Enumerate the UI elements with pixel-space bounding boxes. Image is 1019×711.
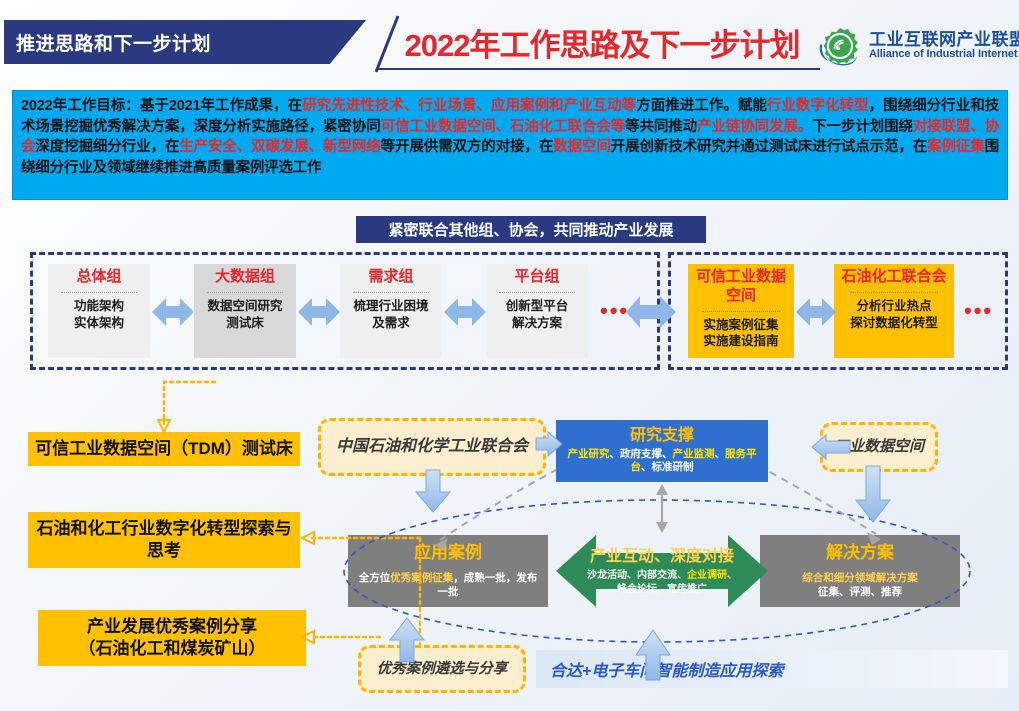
group-card-body: 创新型平台解决方案 [506, 298, 569, 332]
group-card-body: 实施案例征集实施建设指南 [703, 317, 778, 351]
card-divider [702, 311, 780, 312]
industry-interaction-arrow[interactable]: 产业互动、深度对接 沙龙活动、内部交流、企业调研、峰会论坛、宣传推广 [556, 533, 768, 609]
application-case-box[interactable]: 应用案例 全方位优秀案例征集，成熟一批，发布一批 [348, 535, 548, 607]
group-card-body: 数据空间研究测试床 [207, 298, 282, 332]
solution-box[interactable]: 解决方案 综合和细分领域解决方案征集、评测、推荐 [760, 535, 960, 607]
card-divider [207, 292, 282, 293]
cream-box-label: 工业数据空间 [834, 438, 924, 457]
ids-down-arrow [856, 466, 890, 522]
cream-box-industrial-data-space[interactable]: 工业数据空间 [820, 422, 938, 472]
left-group-ellipsis: ••• [600, 300, 629, 322]
vertical-double-arrow [656, 484, 668, 533]
yellow-banner-tdm-testbed[interactable]: 可信工业数据空间（TDM）测试床 [28, 432, 300, 466]
slide-root: 推进思路和下一步计划 2022年工作思路及下一步计划 工业互联网 [0, 0, 1019, 711]
yellow-banner-label: 可信工业数据空间（TDM）测试床 [35, 438, 293, 460]
page-title: 2022年工作思路及下一步计划 [392, 18, 812, 66]
solution-title: 解决方案 [826, 543, 894, 563]
research-support-subtitle: 产业研究、政府支撑、产业监测、服务平台、标准研制 [560, 448, 764, 475]
group-card-title: 石油化工联合会 [841, 268, 946, 287]
goal-banner-text: 2022年工作目标：基于2021年工作成果，在研究先进性技术、行业场景、应用案例… [21, 96, 999, 178]
stripe-caption-label: 合达+电子车间智能制造应用探索 [550, 657, 783, 681]
group-card-title: 总体组 [76, 268, 121, 287]
header-tab-label: 推进思路和下一步计划 [16, 29, 211, 56]
goal-banner: 2022年工作目标：基于2021年工作成果，在研究先进性技术、行业场景、应用案例… [12, 90, 1008, 200]
logo-title-en: Alliance of Industrial Internet [869, 49, 1019, 61]
industry-interaction-subtitle: 沙龙活动、内部交流、企业调研、峰会论坛、宣传推广 [587, 569, 737, 596]
group-card-body: 分析行业热点探讨数据化转型 [850, 298, 938, 332]
gear-wifi-logo-icon [818, 24, 862, 68]
header-tab: 推进思路和下一步计划 [4, 20, 366, 64]
solution-subtitle: 综合和细分领域解决方案征集、评测、推荐 [802, 571, 918, 599]
section-title-bar: 紧密联合其他组、协会，共同推动产业发展 [356, 216, 706, 243]
group-card-overall[interactable]: 总体组 功能架构实体架构 [48, 264, 150, 358]
industry-interaction-title: 产业互动、深度对接 [590, 548, 734, 566]
group-card-title: 可信工业数据空间 [696, 268, 786, 306]
card-divider [353, 292, 428, 293]
group-card-bigdata[interactable]: 大数据组 数据空间研究测试床 [194, 264, 296, 358]
yellow-banner-case-sharing[interactable]: 产业发展优秀案例分享（石油化工和煤炭矿山） [38, 610, 306, 666]
selection-to-banner3-connector [302, 631, 380, 643]
application-case-title: 应用案例 [414, 543, 482, 563]
group-card-trusted-data-space[interactable]: 可信工业数据空间 实施案例征集实施建设指南 [688, 264, 794, 358]
logo-title-cn: 工业互联网产业联盟 [869, 31, 1019, 49]
cream-box-label: 优秀案例遴选与分享 [377, 660, 508, 678]
stripe-caption: 合达+电子车间智能制造应用探索 [536, 650, 1008, 688]
group-card-petrochem-federation[interactable]: 石油化工联合会 分析行业热点探讨数据化转型 [834, 264, 954, 358]
cream-box-cpcia[interactable]: 中国石油和化学工业联合会 [318, 418, 546, 476]
header-rule [378, 68, 820, 70]
group-card-requirements[interactable]: 需求组 梳理行业困境及需求 [340, 264, 442, 358]
cpcia-down-arrow [416, 470, 450, 512]
group-card-title: 需求组 [368, 268, 413, 287]
right-group-ellipsis: ••• [964, 300, 993, 322]
group-card-title: 大数据组 [215, 268, 275, 287]
card-divider [499, 292, 574, 293]
section-title-label: 紧密联合其他组、协会，共同推动产业发展 [388, 219, 673, 240]
group-card-body: 功能架构实体架构 [74, 298, 124, 332]
yellow-banner-label: 产业发展优秀案例分享（石油化工和煤炭矿山） [79, 616, 266, 660]
card-divider [850, 292, 939, 293]
application-case-subtitle: 全方位优秀案例征集，成熟一批，发布一批 [354, 571, 542, 599]
cream-box-case-selection[interactable]: 优秀案例遴选与分享 [358, 645, 526, 693]
cream-box-label: 中国石油和化学工业联合会 [336, 437, 528, 457]
group-card-body: 梳理行业困境及需求 [353, 298, 428, 332]
group-card-title: 平台组 [514, 268, 559, 287]
card-divider [61, 292, 136, 293]
research-support-box[interactable]: 研究支撑 产业研究、政府支撑、产业监测、服务平台、标准研制 [556, 420, 768, 482]
yellow-banner-petrochem-digital[interactable]: 石油和化工行业数字化转型探索与思考 [28, 512, 300, 568]
aii-logo: 工业互联网产业联盟 Alliance of Industrial Interne… [818, 20, 1014, 72]
tdm-dotted-connector [158, 382, 215, 432]
group-card-platform[interactable]: 平台组 创新型平台解决方案 [486, 264, 588, 358]
yellow-banner-label: 石油和化工行业数字化转型探索与思考 [34, 518, 294, 562]
research-support-title: 研究支撑 [630, 427, 694, 445]
